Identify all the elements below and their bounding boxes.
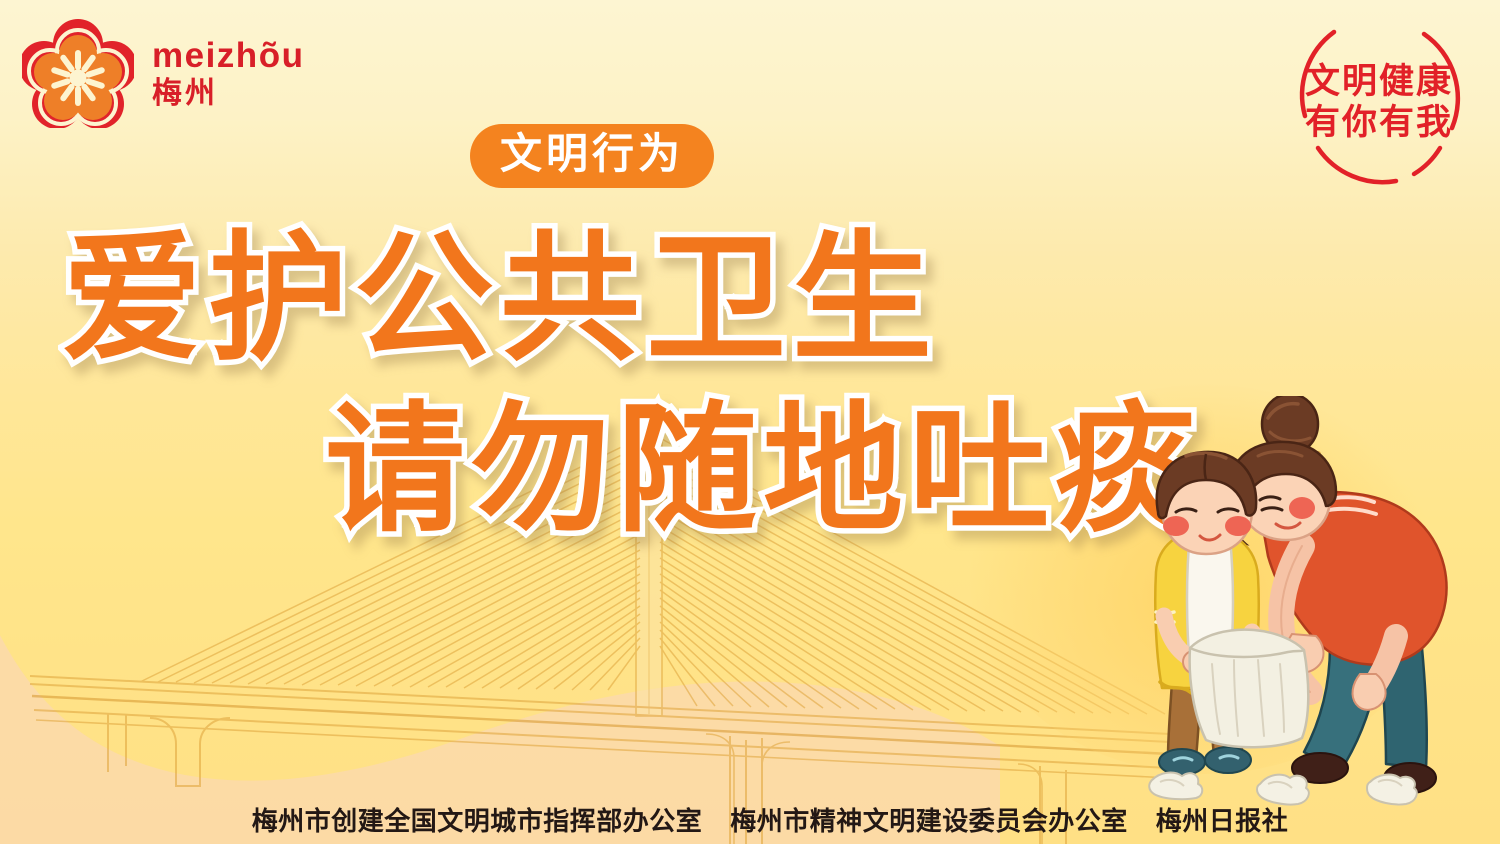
footer-org-1: 梅州市创建全国文明城市指挥部办公室 (252, 801, 703, 838)
meizhou-logo: meizhõu 梅州 (22, 18, 304, 128)
headline-line-1: 爱护公共卫生 (0, 215, 1250, 386)
peach-wave-shape (0, 524, 1000, 844)
plum-blossom-flower-icon (22, 18, 134, 128)
headline: 爱护公共卫生 请勿随地吐痰 (0, 215, 1250, 557)
logo-wordmark: meizhõu 梅州 (152, 38, 304, 109)
footer-org-3: 梅州日报社 (1156, 801, 1289, 838)
badge-line-2: 有你有我 (1305, 105, 1453, 142)
civilized-health-badge: 文明健康 有你有我 (1274, 8, 1484, 198)
badge-line-1: 文明健康 (1305, 64, 1453, 101)
civilized-behavior-pill: 文明行为 (470, 124, 714, 188)
trash-bag (1190, 630, 1309, 748)
footer-organizations: 梅州市创建全国文明城市指挥部办公室 梅州市精神文明建设委员会办公室 梅州日报社 (0, 801, 1500, 838)
poster-canvas: meizhõu 梅州 文明健康 有你有我 文明行为 爱护公共卫生 请勿随地吐痰 (0, 0, 1500, 844)
headline-line-2: 请勿随地吐痰 (0, 386, 1250, 557)
logo-chinese-name: 梅州 (152, 79, 304, 109)
litter-group (1149, 773, 1417, 805)
footer-org-2: 梅州市精神文明建设委员会办公室 (730, 801, 1128, 838)
mother-and-child-illustration (1134, 396, 1494, 816)
logo-pinyin: meizhõu (152, 38, 304, 73)
mother-and-child-graphic (1134, 396, 1494, 816)
